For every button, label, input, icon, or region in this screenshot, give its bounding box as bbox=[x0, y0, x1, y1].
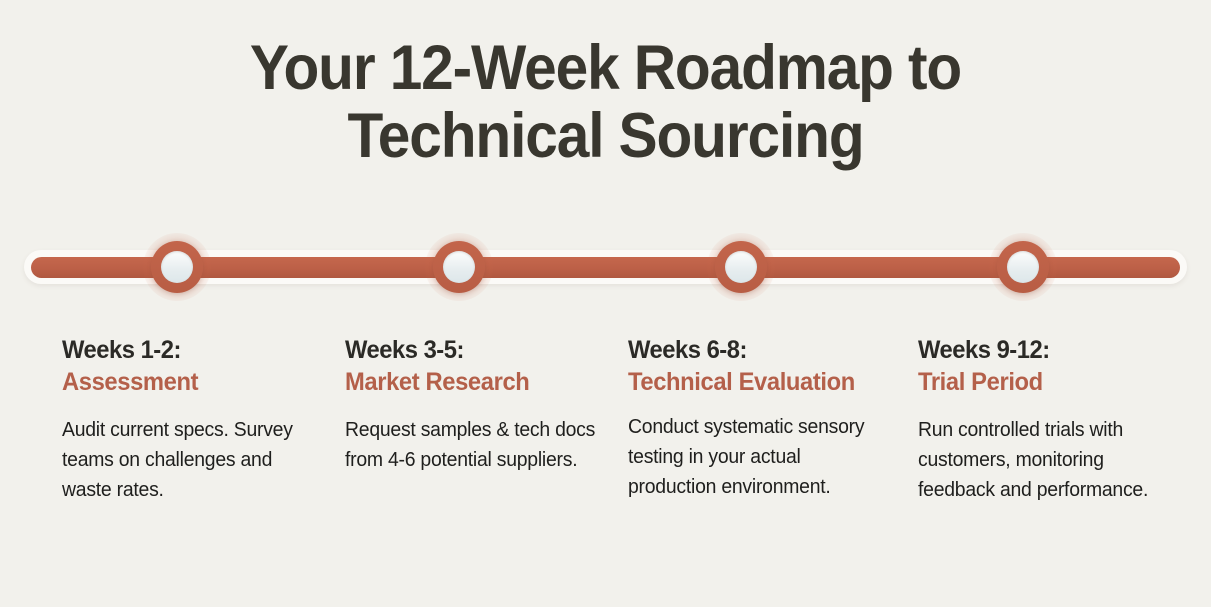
node-core-icon bbox=[1007, 251, 1039, 283]
timeline bbox=[0, 240, 1211, 332]
phase-column-4: Weeks 9-12: Trial Period Run controlled … bbox=[918, 334, 1168, 505]
phase-column-3: Weeks 6-8: Technical Evaluation Conduct … bbox=[628, 334, 878, 502]
roadmap-infographic: { "title": { "line1": "Your 12-Week Road… bbox=[0, 0, 1211, 607]
node-core-icon bbox=[443, 251, 475, 283]
node-core-icon bbox=[725, 251, 757, 283]
phase-weeks-label: Weeks 9-12: bbox=[918, 334, 1156, 366]
phase-column-2: Weeks 3-5: Market Research Request sampl… bbox=[345, 334, 611, 475]
page-title-line-2: Technical Sourcing bbox=[42, 102, 1168, 170]
page-title: Your 12-Week Roadmap to Technical Sourci… bbox=[0, 34, 1211, 170]
phase-name-label: Market Research bbox=[345, 366, 598, 398]
phase-column-1: Weeks 1-2: Assessment Audit current spec… bbox=[62, 334, 328, 505]
phase-description: Conduct systematic sensory testing in yo… bbox=[628, 412, 871, 502]
phase-weeks-label: Weeks 3-5: bbox=[345, 334, 598, 366]
phase-description: Request samples & tech docs from 4-6 pot… bbox=[345, 415, 603, 475]
node-core-icon bbox=[161, 251, 193, 283]
phase-weeks-label: Weeks 1-2: bbox=[62, 334, 315, 366]
phase-weeks-label: Weeks 6-8: bbox=[628, 334, 866, 366]
phase-name-label: Assessment bbox=[62, 366, 315, 398]
phase-description: Run controlled trials with customers, mo… bbox=[918, 415, 1161, 505]
phase-name-label: Technical Evaluation bbox=[628, 366, 866, 398]
page-title-line-1: Your 12-Week Roadmap to bbox=[42, 34, 1168, 102]
phase-description: Audit current specs. Survey teams on cha… bbox=[62, 415, 320, 505]
phase-columns: Weeks 1-2: Assessment Audit current spec… bbox=[0, 334, 1211, 604]
phase-name-label: Trial Period bbox=[918, 366, 1156, 398]
